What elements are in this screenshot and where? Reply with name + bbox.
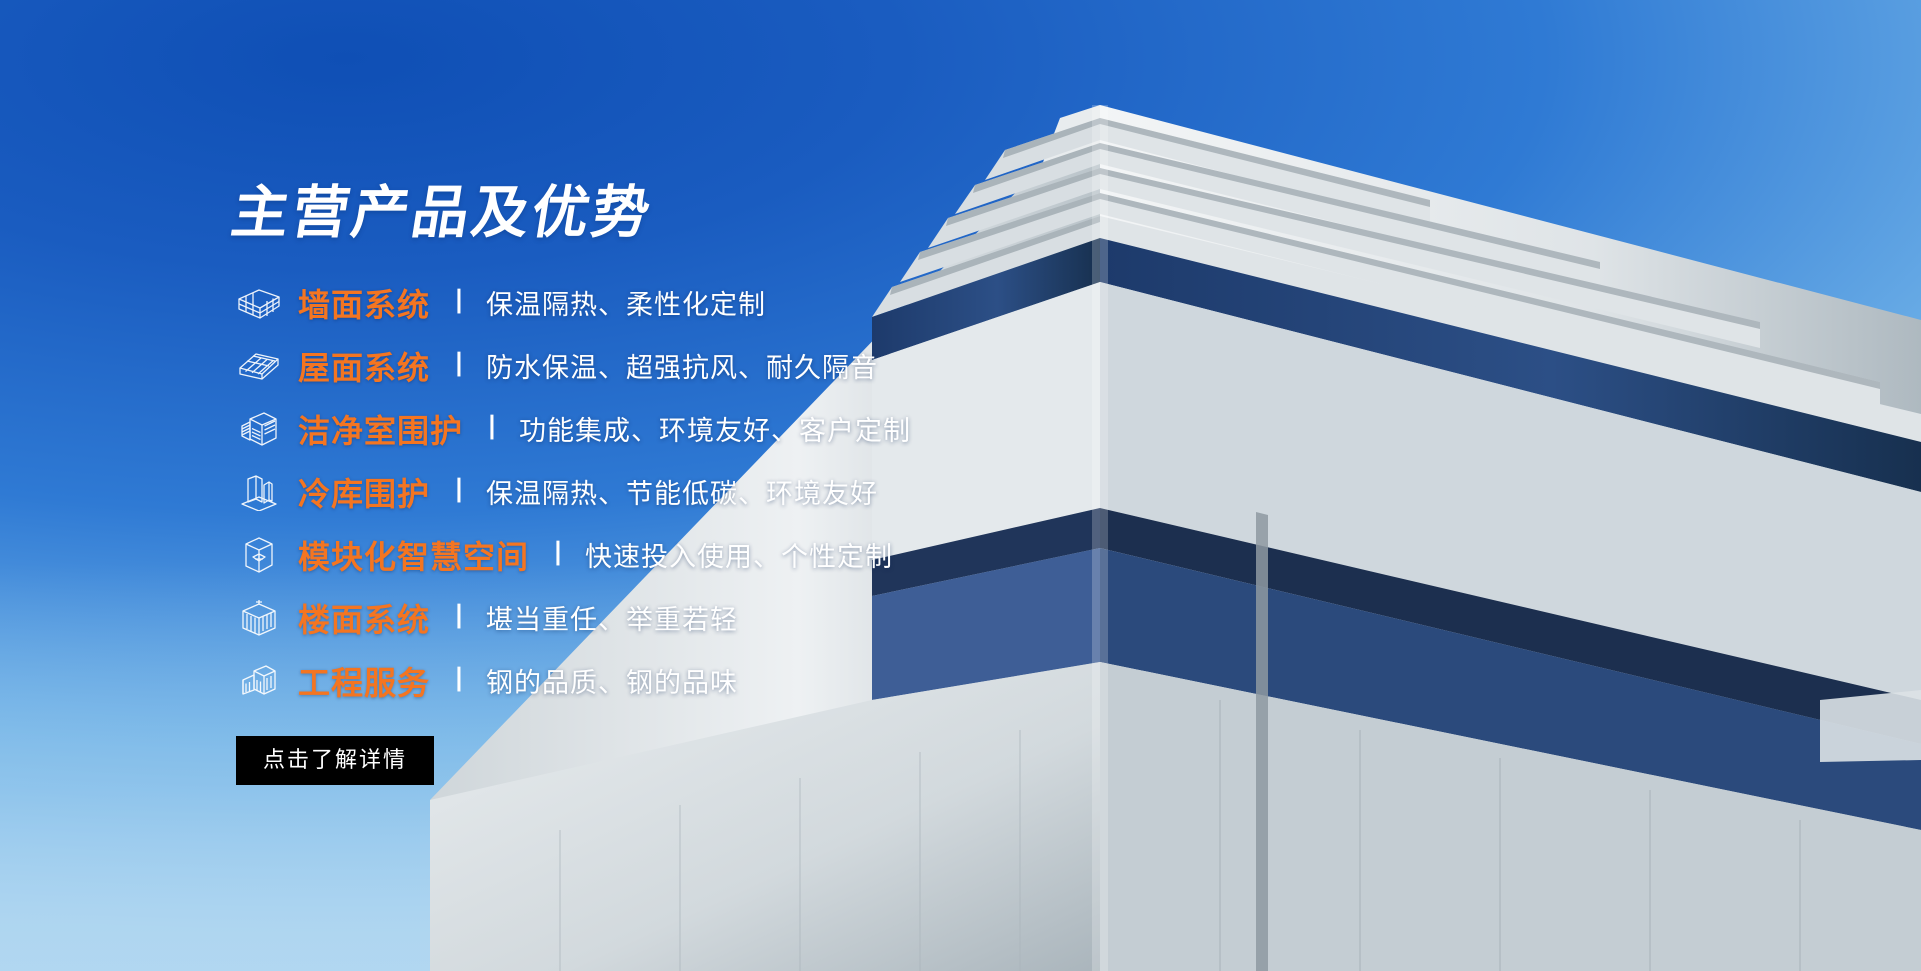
product-description: 钢的品质、钢的品味 (486, 661, 738, 700)
product-description: 快速投入使用、个性定制 (585, 535, 893, 574)
page-title: 主营产品及优势 (227, 184, 1136, 244)
product-row-wall-system[interactable]: 墙面系统 丨 保温隔热、柔性化定制 (232, 276, 1132, 330)
product-description: 堪当重任、举重若轻 (486, 598, 738, 637)
cold-storage-icon (232, 471, 286, 513)
product-title: 模块化智慧空间 (298, 532, 529, 578)
cleanroom-building-icon (232, 408, 286, 450)
separator-bar: 丨 (479, 415, 505, 441)
separator-bar: 丨 (446, 478, 472, 504)
separator-bar: 丨 (446, 667, 472, 693)
product-title: 墙面系统 (298, 280, 430, 326)
engineering-service-icon (232, 660, 286, 702)
product-row-cold-storage-envelope[interactable]: 冷库围护 丨 保温隔热、节能低碳、环境友好 (232, 465, 1132, 519)
product-description: 防水保温、超强抗风、耐久隔音 (486, 346, 878, 385)
product-row-cleanroom-envelope[interactable]: 洁净室围护 丨 功能集成、环境友好、客户定制 (232, 402, 1132, 456)
separator-bar: 丨 (446, 604, 472, 630)
separator-bar: 丨 (446, 352, 472, 378)
module-cube-icon (232, 534, 286, 576)
product-title: 冷库围护 (298, 469, 430, 515)
product-title: 工程服务 (298, 658, 430, 704)
separator-bar: 丨 (545, 541, 571, 567)
learn-more-button[interactable]: 点击了解详情 (236, 736, 434, 785)
product-description: 保温隔热、节能低碳、环境友好 (486, 472, 878, 511)
banner-content: 主营产品及优势 墙面系统 丨 保温隔热、柔性化定制 (232, 184, 1132, 785)
product-description: 功能集成、环境友好、客户定制 (519, 409, 911, 448)
roof-panel-icon (232, 345, 286, 387)
product-row-engineering-service[interactable]: 工程服务 丨 钢的品质、钢的品味 (232, 654, 1132, 708)
product-title: 楼面系统 (298, 595, 430, 641)
cta-container: 点击了解详情 (236, 736, 1132, 785)
product-row-modular-smart-space[interactable]: 模块化智慧空间 丨 快速投入使用、个性定制 (232, 528, 1132, 582)
product-list: 墙面系统 丨 保温隔热、柔性化定制 屋面系统 丨 防水保温、超强抗 (232, 276, 1132, 708)
wall-panel-icon (232, 282, 286, 324)
product-title: 洁净室围护 (298, 406, 463, 452)
hero-banner: 主营产品及优势 墙面系统 丨 保温隔热、柔性化定制 (0, 0, 1921, 971)
product-row-floor-system[interactable]: 楼面系统 丨 堪当重任、举重若轻 (232, 591, 1132, 645)
product-description: 保温隔热、柔性化定制 (486, 283, 766, 322)
product-title: 屋面系统 (298, 343, 430, 389)
floor-system-icon (232, 597, 286, 639)
product-row-roof-system[interactable]: 屋面系统 丨 防水保温、超强抗风、耐久隔音 (232, 339, 1132, 393)
separator-bar: 丨 (446, 289, 472, 315)
